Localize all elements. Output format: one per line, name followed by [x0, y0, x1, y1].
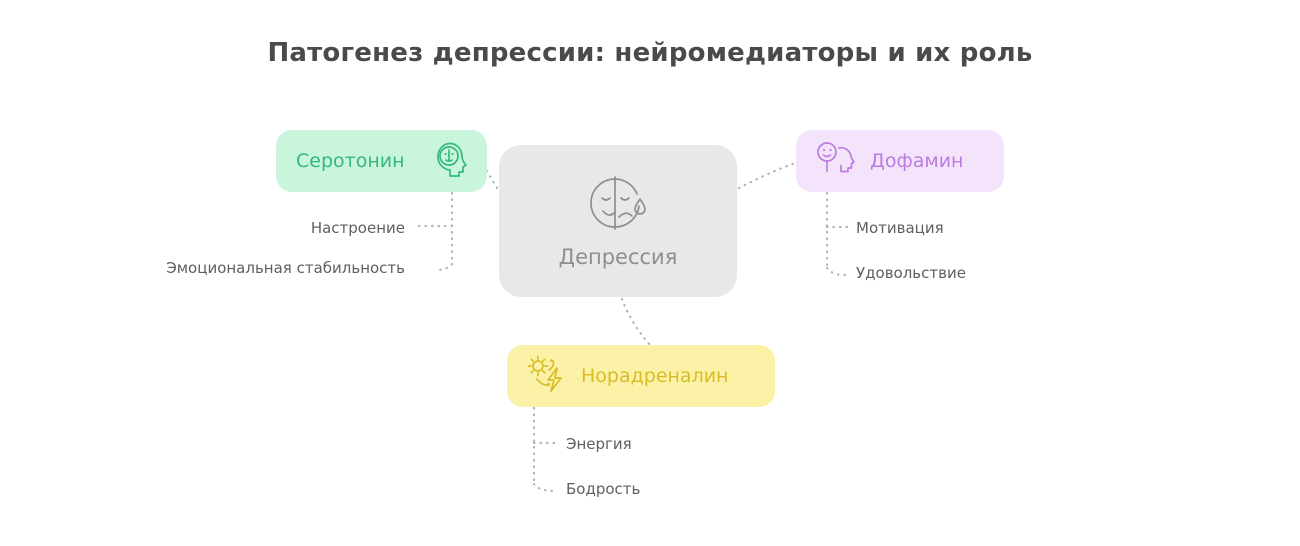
node-central-label: Депрессия	[559, 245, 678, 269]
connector-central-dopamine	[739, 164, 793, 188]
node-serotonin-label: Серотонин	[296, 150, 405, 172]
leaf-serotonin-emotional-stability: Эмоциональная стабильность	[166, 259, 405, 277]
leaf-dopamine-motivation: Мотивация	[856, 219, 944, 237]
split-face-sad-happy-icon	[585, 173, 651, 239]
connector-central-noradrenaline	[622, 299, 651, 346]
node-noradrenaline-label: Норадреналин	[581, 365, 728, 387]
smiley-head-profile-icon	[814, 139, 858, 183]
node-serotonin[interactable]: Серотонин	[276, 130, 487, 192]
leaf-noradrenaline-vigor: Бодрость	[566, 480, 640, 498]
page-title: Патогенез депрессии: нейромедиаторы и их…	[0, 38, 1300, 68]
leaf-dopamine-pleasure: Удовольствие	[856, 264, 966, 282]
leaf-noradrenaline-energy: Энергия	[566, 435, 632, 453]
node-dopamine[interactable]: Дофамин	[796, 130, 1004, 192]
diagram-canvas: Патогенез депрессии: нейромедиаторы и их…	[0, 0, 1300, 546]
sun-lightning-energy-icon	[525, 354, 569, 398]
connector-serotonin-emotional	[437, 264, 452, 270]
node-dopamine-label: Дофамин	[870, 150, 963, 172]
connector-noradrenaline-vigor	[534, 484, 554, 491]
connector-dopamine-pleasure	[827, 268, 845, 275]
head-profile-face-icon	[432, 139, 470, 183]
node-noradrenaline[interactable]: Норадреналин	[507, 345, 775, 407]
node-central-depression[interactable]: Депрессия	[499, 145, 737, 297]
leaf-serotonin-mood: Настроение	[311, 219, 405, 237]
